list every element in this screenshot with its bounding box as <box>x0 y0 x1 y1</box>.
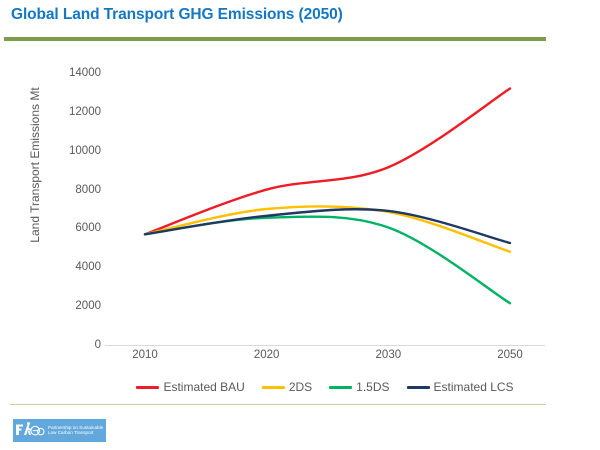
x-tick-label: 2050 <box>497 349 523 361</box>
legend-swatch <box>329 386 352 389</box>
y-tick-label: 2000 <box>5 300 101 312</box>
legend-item[interactable]: Estimated LCS <box>407 380 514 394</box>
plot-area <box>105 73 545 345</box>
legend-label: Estimated BAU <box>163 380 244 394</box>
y-tick-label: 0 <box>5 339 101 351</box>
y-tick-label: 4000 <box>5 261 101 273</box>
line-chart-svg <box>105 73 545 345</box>
y-tick-label: 10000 <box>5 145 101 157</box>
title-divider <box>4 37 546 41</box>
y-tick-label: 8000 <box>5 184 101 196</box>
page-title: Global Land Transport GHG Emissions (205… <box>11 6 343 24</box>
logo-line-2: Low Carbon Transport <box>48 431 103 436</box>
legend-swatch <box>407 386 430 389</box>
legend-swatch <box>262 386 285 389</box>
x-axis-ticks: 2010202020302050 <box>105 349 545 369</box>
x-tick-label: 2030 <box>376 349 402 361</box>
y-tick-label: 12000 <box>5 106 101 118</box>
legend-item[interactable]: Estimated BAU <box>136 380 244 394</box>
series-line <box>145 209 510 243</box>
slocat-logo-icon <box>13 420 47 441</box>
slocat-logo: Partnership on Sustainable Low Carbon Tr… <box>13 419 106 442</box>
series-line <box>145 89 510 235</box>
legend-item[interactable]: 2DS <box>262 380 312 394</box>
footer-divider <box>10 404 546 405</box>
series-line <box>145 217 510 304</box>
x-tick-label: 2010 <box>132 349 158 361</box>
y-tick-label: 6000 <box>5 222 101 234</box>
x-tick-label: 2020 <box>254 349 280 361</box>
x-axis-line <box>105 345 545 346</box>
chart-container: Land Transport Emissions Mt 140001200010… <box>0 52 600 397</box>
y-tick-label: 14000 <box>5 67 101 79</box>
legend-label: Estimated LCS <box>434 380 514 394</box>
legend-label: 1.5DS <box>356 380 389 394</box>
logo-text: Partnership on Sustainable Low Carbon Tr… <box>47 426 103 436</box>
legend-label: 2DS <box>289 380 312 394</box>
chart-legend: Estimated BAU2DS1.5DSEstimated LCS <box>105 377 545 397</box>
legend-swatch <box>136 386 159 389</box>
y-axis-ticks: 14000120001000080006000400020000 <box>0 73 101 345</box>
legend-item[interactable]: 1.5DS <box>329 380 389 394</box>
